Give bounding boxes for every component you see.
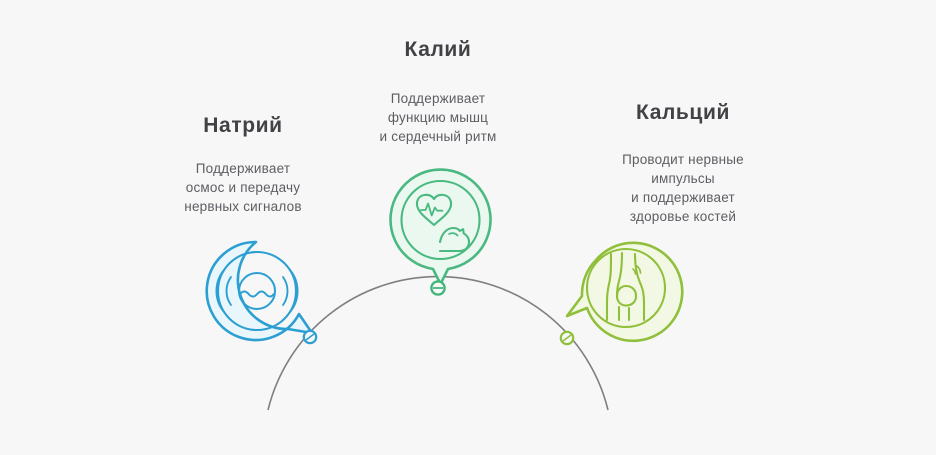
potassium-heading: Калий bbox=[338, 38, 538, 62]
potassium-bubble[interactable] bbox=[388, 165, 498, 290]
calcium-text-block: Кальций Проводит нервные импульсы и подд… bbox=[583, 101, 783, 226]
sodium-heading: Натрий bbox=[143, 114, 343, 138]
sodium-description: Поддерживает осмос и передачу нервных си… bbox=[143, 159, 343, 216]
water-osmosis-icon bbox=[207, 242, 312, 340]
sodium-text-block: Натрий Поддерживает осмос и передачу нер… bbox=[143, 114, 343, 216]
bone-joint-icon bbox=[567, 243, 682, 341]
calcium-description: Проводит нервные импульсы и поддерживает… bbox=[583, 150, 783, 226]
infographic-canvas: Натрий Поддерживает осмос и передачу нер… bbox=[0, 0, 936, 455]
potassium-text-block: Калий Поддерживает функцию мышц и сердеч… bbox=[338, 38, 538, 146]
sodium-bubble[interactable] bbox=[202, 237, 322, 347]
heart-muscle-icon bbox=[391, 170, 491, 284]
calcium-heading: Кальций bbox=[583, 101, 783, 125]
calcium-bubble[interactable] bbox=[562, 232, 682, 342]
potassium-description: Поддерживает функцию мышц и сердечный ри… bbox=[338, 89, 538, 146]
